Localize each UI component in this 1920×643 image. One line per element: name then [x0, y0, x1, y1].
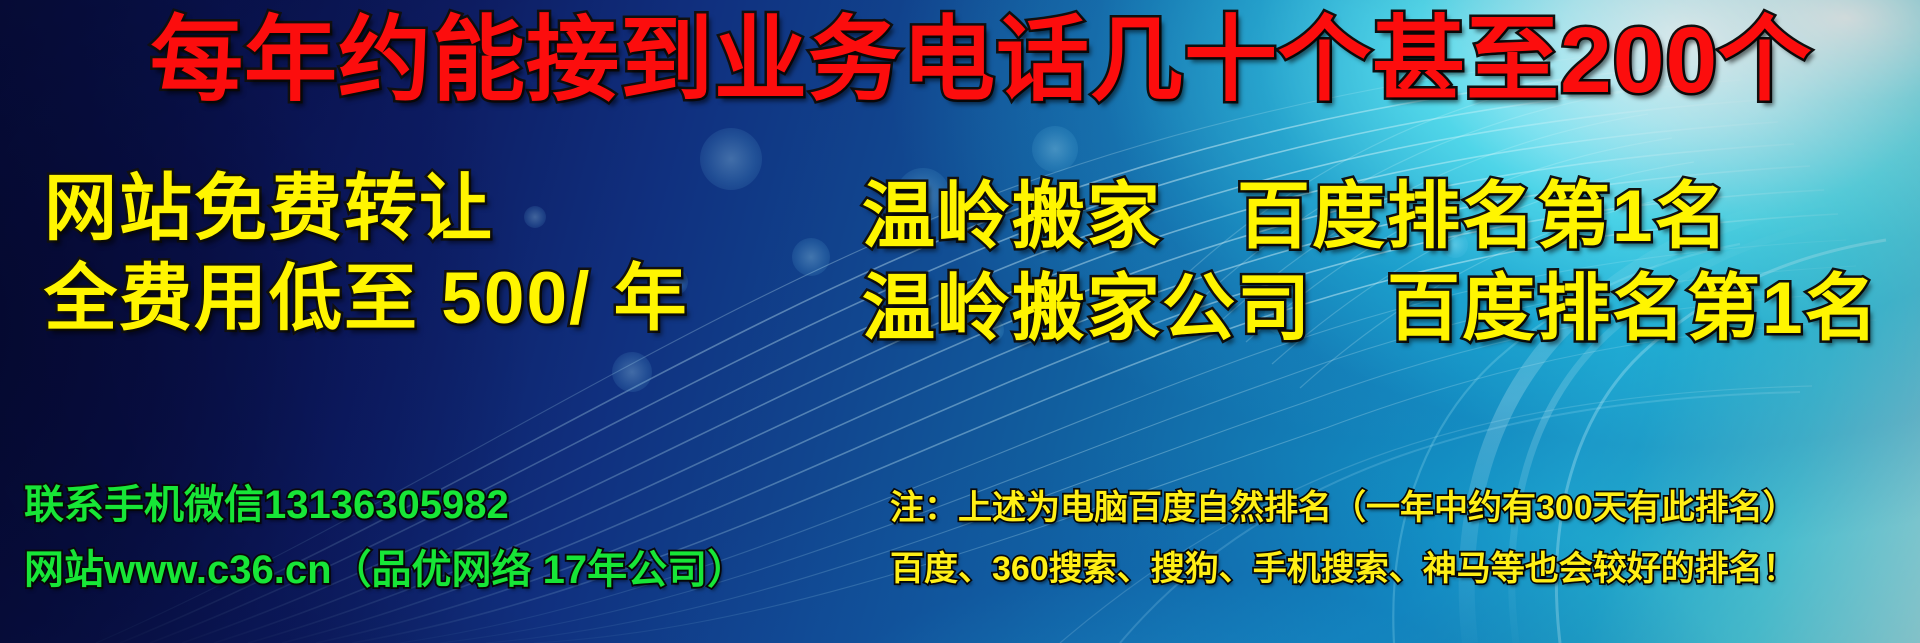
- headline-text: 每年约能接到业务电话几十个甚至200个: [150, 14, 1812, 107]
- note-line-1: 注：上述为电脑百度自然排名（一年中约有300天有此排名）: [890, 491, 1797, 525]
- right-ranking-line-2: 温岭搬家公司 百度排名第1名: [862, 272, 1880, 345]
- right-ranking-line-1: 温岭搬家 百度排名第1名: [862, 180, 1730, 253]
- banner-text-layer: 每年约能接到业务电话几十个甚至200个 网站免费转让 全费用低至 500/ 年 …: [0, 0, 1920, 643]
- contact-website-line[interactable]: 网站www.c36.cn（品优网络 17年公司）: [24, 550, 747, 590]
- promo-banner: 每年约能接到业务电话几十个甚至200个 网站免费转让 全费用低至 500/ 年 …: [0, 0, 1920, 643]
- left-offer-line-2: 全费用低至 500/ 年: [44, 262, 689, 335]
- contact-phone-line[interactable]: 联系手机微信13136305982: [24, 485, 509, 525]
- note-line-2: 百度、360搜索、搜狗、手机搜索、神马等也会较好的排名！: [890, 552, 1797, 586]
- left-offer-line-1: 网站免费转让: [44, 172, 494, 245]
